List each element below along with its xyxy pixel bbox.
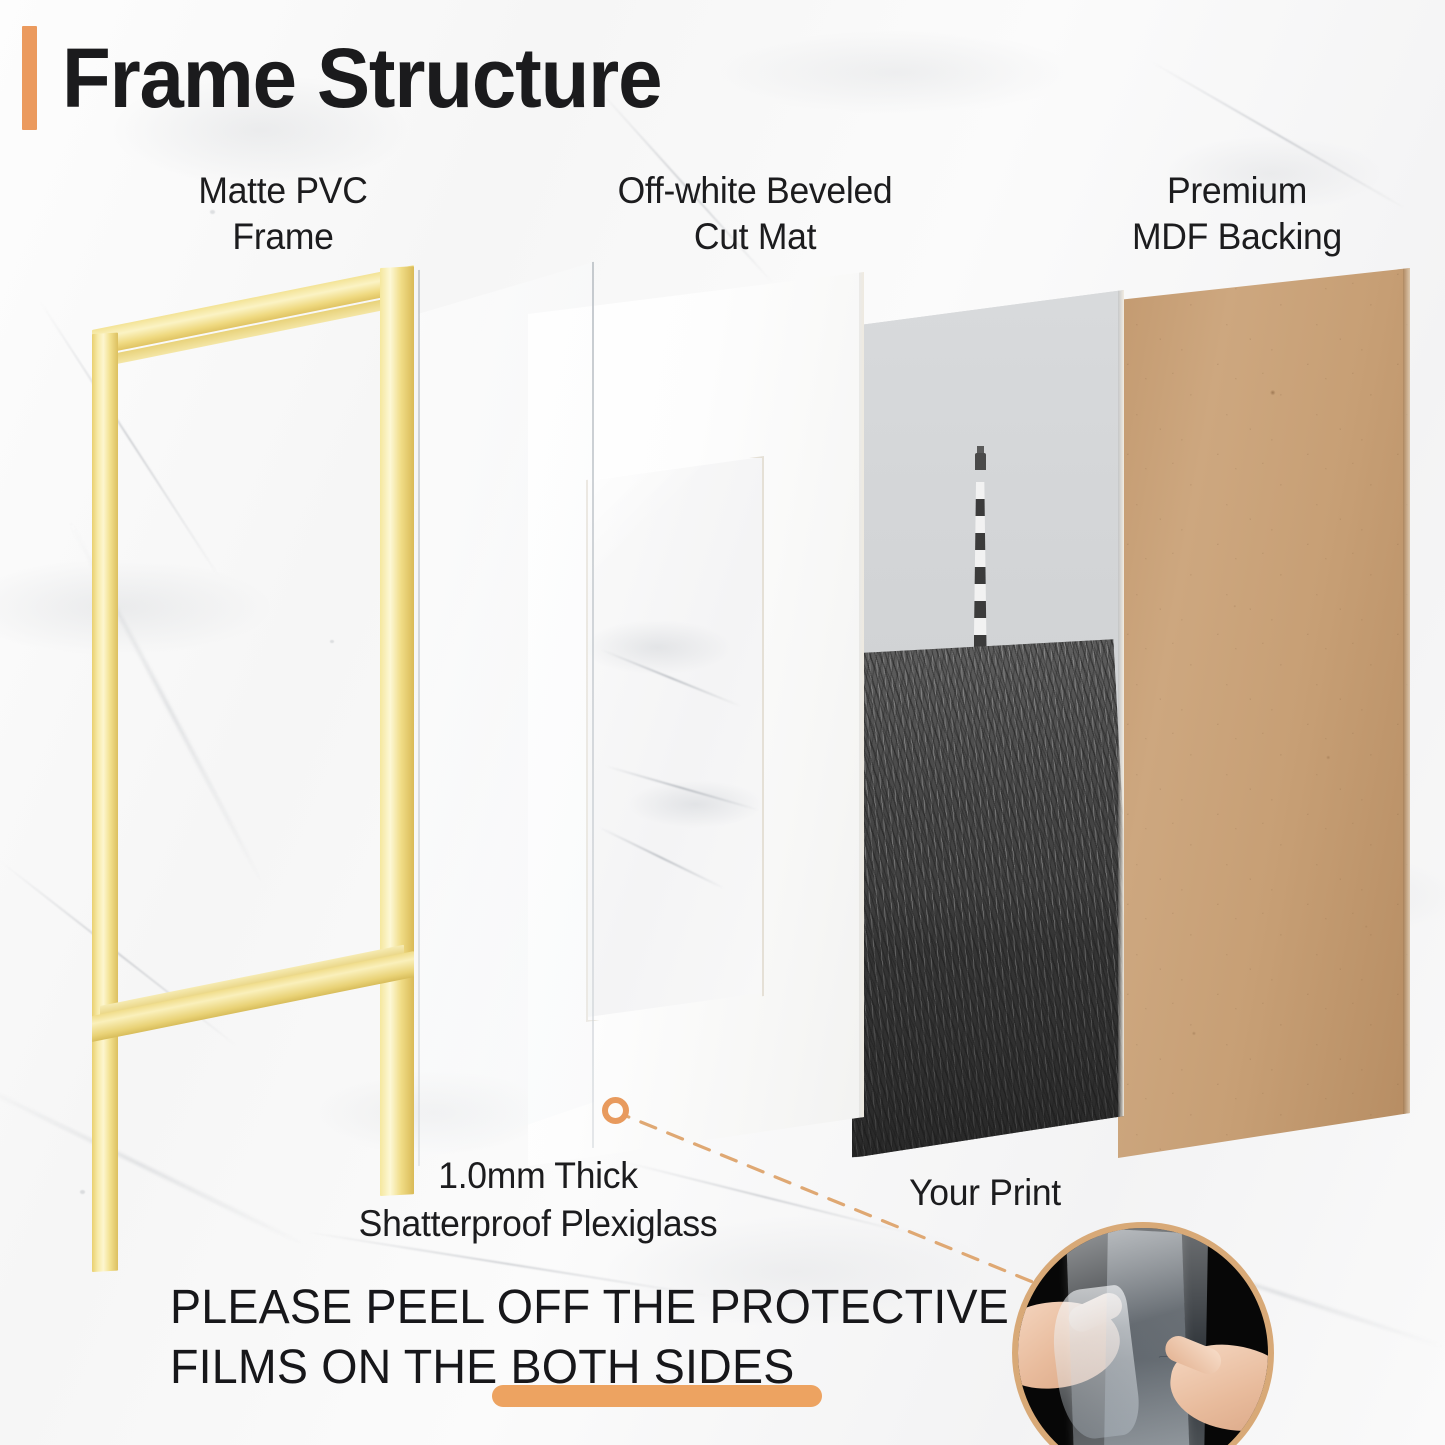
frame-left-rail (92, 333, 118, 1272)
frame-right-rail (380, 266, 414, 1196)
label-your-print: Your Print (827, 1170, 1144, 1216)
plexiglass-callout-marker (602, 1097, 629, 1124)
title-accent-bar (22, 26, 37, 130)
warning-line-1: PLEASE PEEL OFF THE PROTECTIVE (170, 1278, 1024, 1338)
frame-bottom-rail (92, 951, 414, 1042)
layer-photo-print (852, 290, 1124, 1158)
photo-dune-shadow (852, 882, 1124, 1158)
lighthouse-icon (972, 455, 989, 660)
mat-bevel-edge (586, 456, 764, 1022)
infographic-canvas: Frame Structure Matte PVC Frame Off-whit… (0, 0, 1445, 1445)
label-plexiglass: 1.0mm Thick Shatterproof Plexiglass (250, 1152, 826, 1248)
page-title: Frame Structure (62, 22, 661, 134)
warning-line-2: FILMS ON THE BOTH SIDES (170, 1338, 1043, 1398)
mdf-texture (1118, 268, 1410, 1158)
label-beveled-cut-mat: Off-white Beveled Cut Mat (549, 168, 962, 260)
plexiglass-right-edge (592, 262, 594, 1148)
layer-pvc-frame (78, 256, 438, 1156)
label-mdf-backing: Premium MDF Backing (1059, 168, 1414, 260)
layer-plexiglass (418, 262, 594, 1162)
label-matte-pvc-frame: Matte PVC Frame (115, 168, 451, 260)
layer-mdf-backing (1118, 268, 1410, 1158)
